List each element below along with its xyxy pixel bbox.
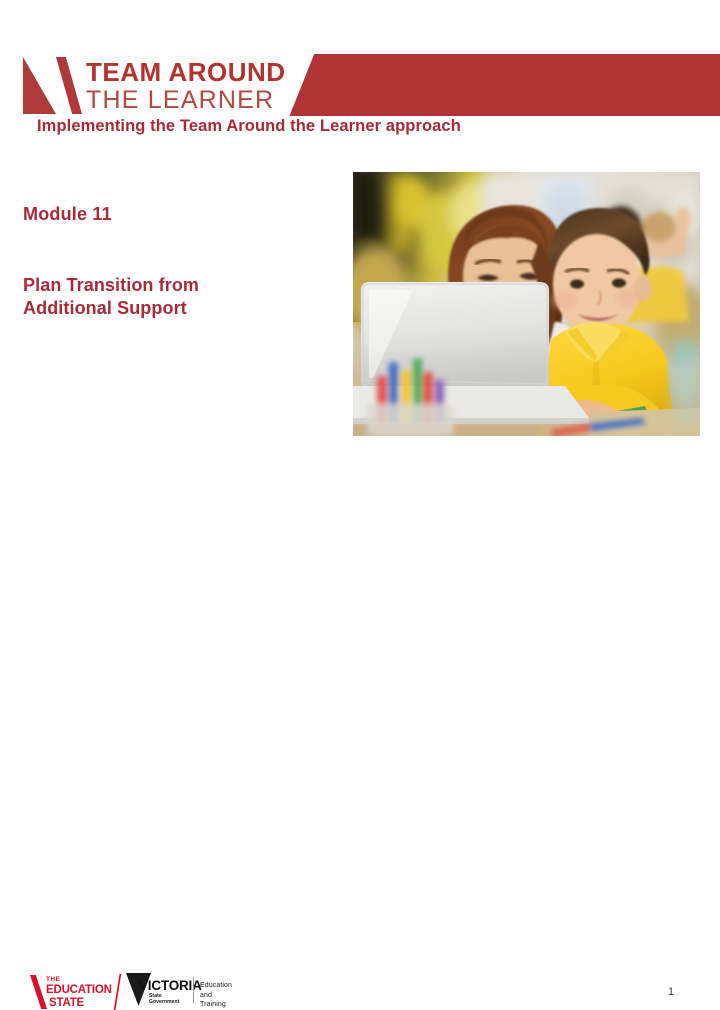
page-number: 1 bbox=[668, 986, 674, 998]
logo-slash-icon bbox=[56, 57, 82, 114]
module-label: Module 11 bbox=[23, 204, 112, 225]
victoria-divider bbox=[193, 977, 194, 1003]
victoria-dept-line-2: and Training bbox=[200, 991, 236, 1010]
victoria-government-logo: VICTORIA State Government Education and … bbox=[126, 973, 236, 1009]
slide-canvas: TEAM AROUND THE LEARNER Implementing the… bbox=[0, 0, 720, 540]
victoria-dept-line-1: Education bbox=[200, 981, 236, 991]
module-subtitle: Plan Transition from Additional Support bbox=[23, 274, 283, 320]
education-state-line-2: EDUCATION bbox=[46, 984, 112, 997]
header-red-banner bbox=[286, 54, 720, 116]
header-band: TEAM AROUND THE LEARNER bbox=[0, 27, 720, 89]
victoria-department-label: Education and Training bbox=[200, 981, 236, 1010]
team-around-learner-logo: TEAM AROUND THE LEARNER bbox=[86, 58, 286, 114]
logo-line-2: THE LEARNER bbox=[86, 86, 286, 114]
education-state-logo: THE EDUCATION STATE bbox=[30, 975, 125, 1009]
education-state-wordmark: THE EDUCATION STATE bbox=[46, 976, 112, 1010]
classroom-photo bbox=[353, 172, 700, 436]
logo-line-1: TEAM AROUND bbox=[86, 58, 286, 86]
education-state-vee-icon bbox=[30, 975, 47, 1009]
page-title: Implementing the Team Around the Learner… bbox=[37, 117, 461, 136]
footer: THE EDUCATION STATE VICTORIA State Gover… bbox=[0, 484, 720, 540]
logo-triangle-icon bbox=[23, 57, 56, 114]
education-state-line-3: STATE bbox=[49, 997, 112, 1010]
education-state-line-1: THE bbox=[46, 976, 112, 984]
